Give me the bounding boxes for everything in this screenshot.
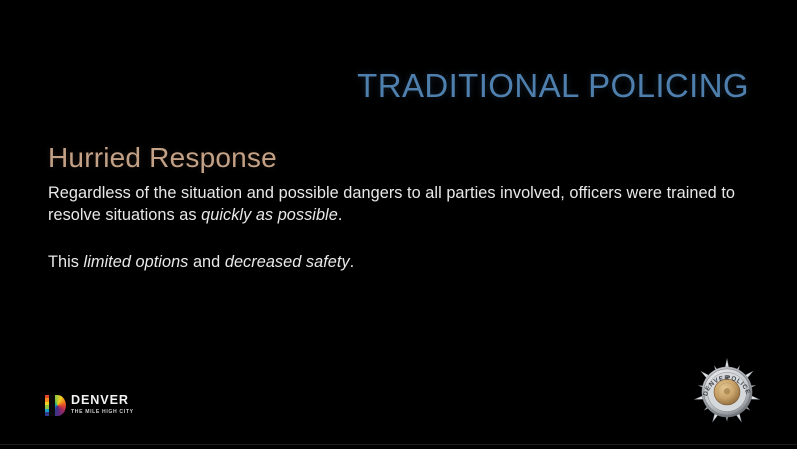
denver-wordmark: DENVER THE MILE HIGH CITY <box>71 394 134 416</box>
slide-canvas: TRADITIONAL POLICING Hurried Response Re… <box>0 0 797 449</box>
slide-bottom-margin <box>0 445 797 449</box>
slide-body-text: Regardless of the situation and possible… <box>48 183 758 274</box>
text-run-emphasis: decreased safety <box>225 253 350 271</box>
text-run: . <box>338 206 343 224</box>
police-badge-icon: DENVERPOLICE <box>691 357 763 427</box>
denver-color-wheel-icon <box>49 395 66 416</box>
denver-logo-name: DENVER <box>71 394 134 407</box>
denver-d-mark-icon <box>45 395 66 416</box>
denver-city-logo: DENVER THE MILE HIGH CITY <box>45 393 134 417</box>
text-run: This <box>48 253 84 271</box>
denver-logo-tagline: THE MILE HIGH CITY <box>71 408 134 416</box>
body-paragraph-2: This limited options and decreased safet… <box>48 252 758 274</box>
text-run-emphasis: limited options <box>84 253 189 271</box>
slide-title: TRADITIONAL POLICING <box>357 66 749 106</box>
text-run: and <box>188 253 224 271</box>
body-paragraph-1: Regardless of the situation and possible… <box>48 183 758 226</box>
text-run-emphasis: quickly as possible <box>201 206 338 224</box>
text-run: . <box>350 253 355 271</box>
text-run: Regardless of the situation and possible… <box>48 184 735 224</box>
slide-subheading: Hurried Response <box>48 141 277 175</box>
